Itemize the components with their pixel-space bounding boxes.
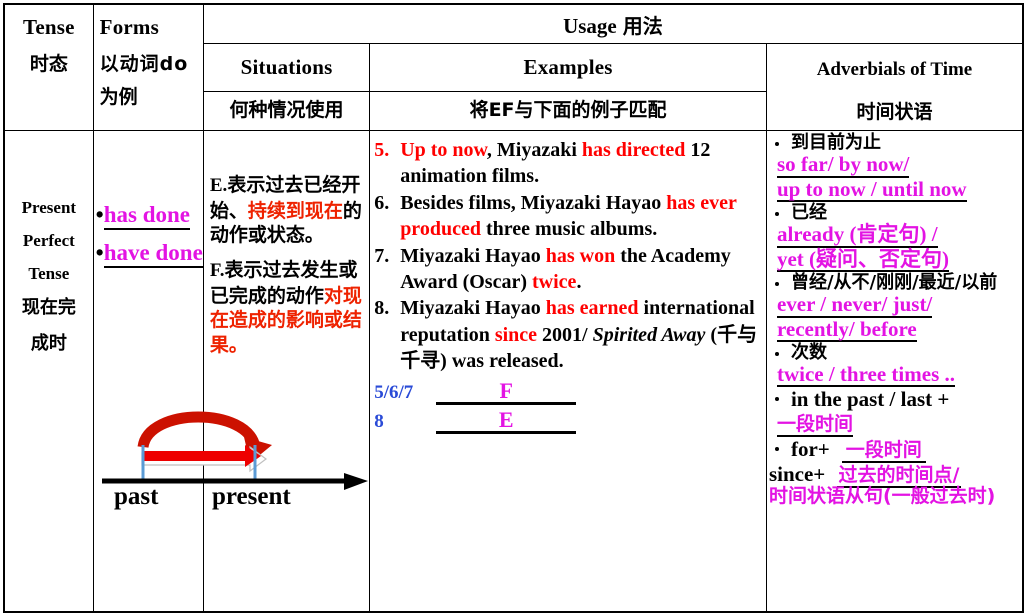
situation-e-red: 持续到现在 [248,200,343,222]
timeline-axis-arrowhead [344,473,368,490]
header-examples-en: Examples [524,55,613,79]
example-number: 8. [374,295,400,321]
example-item: 5.Up to now, Miyazaki has directed 12 an… [374,137,762,190]
adverbial-item: 到目前为止so far/ by now/up to now / until no… [769,133,1020,202]
header-tense-cn: 时态 [5,53,93,76]
adverbial-en-underlined: ever / never/ just/ [777,294,932,317]
tense-line-2: Perfect [5,224,93,257]
header-forms-cn-2: 为例 [100,86,203,109]
adverbial-en-line: recently/ before [777,318,1020,342]
adverbial-item: 曾经/从不/刚刚/最近/以前ever / never/ just/recentl… [769,273,1020,342]
header-situations-en: Situations [241,55,333,79]
answer-key: 8 [374,410,436,434]
header-adverbials-cn: 时间状语 [856,101,932,124]
adverbial-en-underlined: so far/ by now/ [777,154,909,177]
example-text-span: has earned [546,297,639,319]
example-number: 7. [374,243,400,269]
header-situations-cn: 何种情况使用 [230,99,344,122]
cell-examples: 5.Up to now, Miyazaki has directed 12 an… [370,131,767,613]
grammar-table-page: Tense 时态 Forms 以动词do 为例 Usage用法 Situatio… [0,3,1025,571]
adverbial-since-block: since+ 过去的时间点/ 时间状语从句(一般过去时) [769,463,1020,508]
example-text-span: has directed [582,139,686,161]
timeline-label-present: present [212,483,291,511]
adverbial-cn-label: 曾经/从不/刚刚/最近/以前 [791,273,1020,293]
example-number: 5. [374,137,400,163]
adverbial-item: 已经already (肯定句) /yet (疑问、否定句) [769,203,1020,272]
header-usage-cn: 用法 [623,14,663,38]
example-text-span: twice [532,271,576,293]
situation-f-label: F. [210,260,225,281]
cell-forms: •has done •have done [93,131,203,613]
form-bullet-2: • [96,240,104,265]
tense-line-1: Present [5,191,93,224]
adverbial-en-line: yet (疑问、否定句) [777,248,1020,272]
adverbial-since-line2: 时间状语从句(一般过去时) [769,486,1020,508]
adverbial-en-line: 一段时间 [777,412,1020,436]
cell-adverbials: 到目前为止so far/ by now/up to now / until no… [766,131,1023,613]
answer-row: 8E [374,408,762,434]
examples-list: 5.Up to now, Miyazaki has directed 12 an… [374,137,762,375]
example-text-span: Spirited Away [593,324,706,346]
tense-summary-table: Tense 时态 Forms 以动词do 为例 Usage用法 Situatio… [3,3,1024,613]
header-cell-examples: Examples 将EF与下面的例子匹配 [370,44,767,131]
adverbial-en-underlined: up to now / until now [777,179,967,202]
timeline-diagram: past present [100,401,372,516]
example-item: 6.Besides films, Miyazaki Hayao has ever… [374,190,762,243]
adverbials-list: 到目前为止so far/ by now/up to now / until no… [769,133,1020,462]
adverbial-en-line: up to now / until now [777,178,1020,202]
tense-line-4: 现在完 [5,290,93,325]
answers-block: 5/6/7F8E [374,379,762,434]
adverbial-en-underlined: twice / three times .. [777,364,955,387]
adverbial-cn-label: 到目前为止 [791,133,1020,153]
example-item: 8.Miyazaki Hayao has earned internationa… [374,295,762,374]
cell-situations: E.表示过去已经开始、持续到现在的动作或状态。 F.表示过去发生或已完成的动作对… [203,131,369,613]
tense-line-5: 成时 [5,326,93,361]
form-has-done: •has done [96,203,190,226]
header-forms-en: Forms [100,15,203,39]
adverbial-en-line: twice / three times .. [777,363,1020,387]
header-cell-usage: Usage用法 [203,4,1023,44]
header-adverbials-en: Adverbials of Time [817,59,973,81]
example-text-span: Up to now [400,139,487,161]
header-cell-tense: Tense 时态 [4,4,93,131]
adverbial-item: in the past / last +一段时间 [769,388,1020,436]
adverbial-en-black: in the past / last + [791,388,1020,412]
situation-f: F.表示过去发生或已完成的动作对现在造成的影响或结果。 [210,258,365,358]
example-text-span: , Miyazaki [487,139,582,161]
example-text-span: three music albums. [481,218,657,240]
adverbial-inline-magenta: 一段时间 [842,439,926,463]
example-text-span: Miyazaki Hayao [400,245,546,267]
header-cell-forms: Forms 以动词do 为例 [93,4,203,131]
example-number: 6. [374,190,400,216]
example-text-span: since [495,324,537,346]
situation-e-label: E. [210,175,227,196]
header-row-1: Tense 时态 Forms 以动词do 为例 Usage用法 [4,4,1023,44]
header-cell-adverbials: Adverbials of Time 时间状语 [766,44,1023,131]
example-text-span: 2001/ [537,324,593,346]
adverbial-cn-label: 次数 [791,343,1020,363]
form-bullet-1: • [96,202,104,227]
example-text-span: Miyazaki Hayao [400,297,546,319]
answer-key: 5/6/7 [374,381,436,405]
header-usage-en: Usage [563,14,617,38]
adverbial-item: for+一段时间 [769,438,1020,462]
example-text-span: has won [546,245,615,267]
form-have-done: •have done [96,241,203,264]
timeline-label-past: past [114,483,158,511]
adverbial-en-black: for+一段时间 [791,438,1020,462]
adverbial-cn-label: 已经 [791,203,1020,223]
adverbial-en-underlined: already (肯定句) / [777,224,938,247]
answer-value[interactable]: F [436,379,576,405]
adverbial-en-line: already (肯定句) / [777,223,1020,247]
form-has-done-text: has done [104,202,190,230]
tense-line-3: Tense [5,257,93,290]
situation-e: E.表示过去已经开始、持续到现在的动作或状态。 [210,173,365,248]
header-cell-situations: Situations 何种情况使用 [203,44,369,131]
example-text-span: . [576,271,581,293]
adverbial-en-line: so far/ by now/ [777,153,1020,177]
adverbial-since-line: since+ 过去的时间点/ [769,463,1020,486]
header-tense-en: Tense [5,15,93,39]
body-row-present-perfect: Present Perfect Tense 现在完 成时 •has done •… [4,131,1023,613]
adverbial-en-underlined: 一段时间 [777,415,853,436]
cell-tense: Present Perfect Tense 现在完 成时 [4,131,93,613]
header-forms-cn-1: 以动词do [100,53,203,76]
form-have-done-text: have done [104,240,203,268]
adverbial-since-label: since+ [769,462,825,486]
adverbial-en-underlined: yet (疑问、否定句) [777,249,949,272]
example-item: 7.Miyazaki Hayao has won the Academy Awa… [374,243,762,296]
answer-row: 5/6/7F [374,379,762,405]
adverbial-en-line: ever / never/ just/ [777,293,1020,317]
example-text-span: Besides films, Miyazaki Hayao [400,192,666,214]
header-examples-cn: 将EF与下面的例子匹配 [470,99,667,122]
timeline-arc [143,417,255,447]
adverbial-en-underlined: recently/ before [777,319,917,342]
adverbial-item: 次数twice / three times .. [769,343,1020,388]
answer-value[interactable]: E [436,408,576,434]
